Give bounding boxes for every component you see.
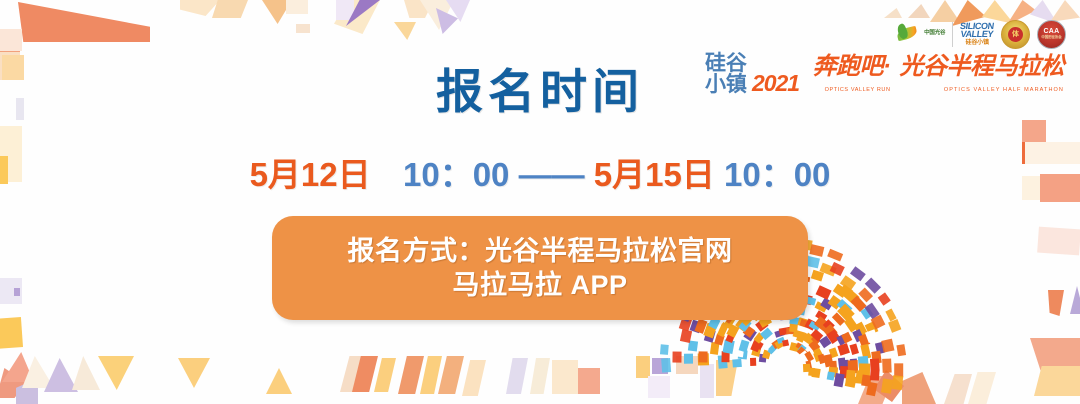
end-date: 5月15日	[594, 156, 715, 193]
confetti-shape	[374, 358, 396, 392]
confetti-shape	[436, 8, 458, 34]
registration-method-line1: 报名方式：光谷半程马拉松官网	[348, 236, 733, 266]
confetti-shape	[438, 356, 464, 394]
confetti-shape	[462, 360, 486, 396]
confetti-shape	[398, 356, 424, 394]
confetti-shape	[578, 368, 600, 394]
start-date: 5月12日	[250, 156, 371, 193]
starburst-particle	[662, 358, 672, 372]
starburst-particle	[881, 378, 893, 393]
starburst-particle	[684, 354, 693, 364]
confetti-shape	[506, 358, 528, 394]
confetti-shape	[530, 358, 550, 394]
confetti-shape	[0, 278, 22, 304]
starburst-particle	[896, 344, 906, 357]
leaf-icon	[895, 21, 921, 47]
confetti-shape	[340, 356, 368, 392]
confetti-shape	[0, 29, 22, 51]
confetti-shape	[266, 368, 292, 394]
confetti-shape	[346, 0, 380, 26]
confetti-shape	[18, 2, 150, 42]
starburst-particle	[673, 351, 682, 362]
sports-bureau-badge: 体	[1001, 20, 1030, 49]
starburst-particle	[866, 381, 877, 395]
confetti-shape	[44, 358, 78, 392]
confetti-shape	[1048, 290, 1064, 316]
starburst-particle	[870, 369, 879, 380]
confetti-shape	[98, 356, 134, 390]
starburst-particle	[892, 375, 903, 389]
confetti-shape	[178, 358, 210, 388]
confetti-shape	[1022, 120, 1046, 144]
starburst-particle	[881, 339, 894, 353]
silicon-valley-line3: 硅谷小镇	[960, 40, 994, 46]
confetti-shape	[700, 364, 714, 398]
organizer-badges: 中国光谷 SILICON VALLEY 硅谷小镇 体 CAA 中国田径协会	[698, 16, 1070, 52]
confetti-shape	[180, 0, 220, 16]
starburst-particle	[732, 359, 742, 368]
starburst-particle	[698, 351, 707, 362]
caa-sublabel: 中国田径协会	[1041, 36, 1061, 39]
caa-badge: CAA 中国田径协会	[1037, 20, 1066, 49]
confetti-shape	[72, 356, 100, 390]
confetti-shape	[636, 356, 650, 378]
starburst-particle	[812, 368, 821, 378]
confetti-shape	[1034, 366, 1080, 396]
starburst-particle	[782, 340, 789, 347]
confetti-shape	[334, 0, 380, 34]
confetti-shape	[1030, 338, 1080, 372]
confetti-shape	[2, 352, 34, 382]
registration-time-poster: 中国光谷 SILICON VALLEY 硅谷小镇 体 CAA 中国田径协会 硅谷…	[0, 0, 1080, 404]
confetti-shape	[968, 372, 996, 404]
confetti-shape	[648, 376, 670, 398]
starburst-particle	[837, 343, 849, 356]
starburst-particle	[877, 293, 890, 307]
starburst-particle	[809, 245, 823, 257]
registration-method-line2: 马拉马拉 APP	[452, 270, 627, 300]
confetti-shape	[336, 0, 354, 20]
confetti-shape	[404, 0, 434, 18]
confetti-shape	[420, 356, 442, 394]
confetti-shape	[420, 0, 454, 30]
silicon-valley-line2: VALLEY	[960, 30, 995, 39]
confetti-shape	[552, 360, 578, 394]
confetti-shape	[944, 374, 972, 404]
confetti-shape	[262, 0, 292, 24]
starburst-particle	[888, 319, 901, 333]
starburst-particle	[816, 285, 831, 299]
confetti-shape	[296, 24, 310, 33]
start-time: 10：00	[403, 156, 509, 193]
range-separator: ——	[519, 156, 585, 193]
divider	[952, 22, 953, 47]
confetti-shape	[1037, 227, 1080, 256]
confetti-shape	[16, 378, 38, 404]
starburst-particle	[850, 344, 859, 355]
starburst-particle	[882, 359, 891, 373]
registration-period: 5月12日 10：00 —— 5月15日 10：00	[0, 158, 1080, 191]
starburst-particle	[827, 248, 843, 261]
confetti-shape	[212, 0, 248, 18]
silicon-valley-town-logo: SILICON VALLEY 硅谷小镇	[960, 22, 994, 46]
confetti-shape	[286, 0, 308, 14]
confetti-shape	[0, 368, 26, 398]
page-title: 报名时间	[0, 68, 1080, 115]
confetti-shape	[0, 29, 20, 53]
confetti-shape	[22, 356, 54, 388]
sports-bureau-label: 体	[1008, 27, 1023, 42]
end-time: 10：00	[724, 156, 830, 193]
confetti-shape	[1070, 286, 1080, 314]
confetti-shape	[352, 356, 378, 392]
optics-valley-logo: 中国光谷	[895, 21, 945, 47]
confetti-shape	[446, 0, 470, 22]
starburst-particle	[750, 358, 756, 366]
optics-valley-label: 中国光谷	[924, 31, 945, 37]
registration-method-box: 报名方式：光谷半程马拉松官网 马拉马拉 APP	[272, 216, 808, 320]
starburst-particle	[680, 329, 692, 343]
starburst-particle	[834, 373, 845, 387]
confetti-shape	[394, 22, 416, 40]
starburst-particle	[660, 344, 668, 355]
confetti-shape	[0, 317, 23, 349]
confetti-shape	[14, 288, 20, 296]
starburst-particle	[845, 375, 857, 387]
confetti-shape	[902, 372, 936, 404]
